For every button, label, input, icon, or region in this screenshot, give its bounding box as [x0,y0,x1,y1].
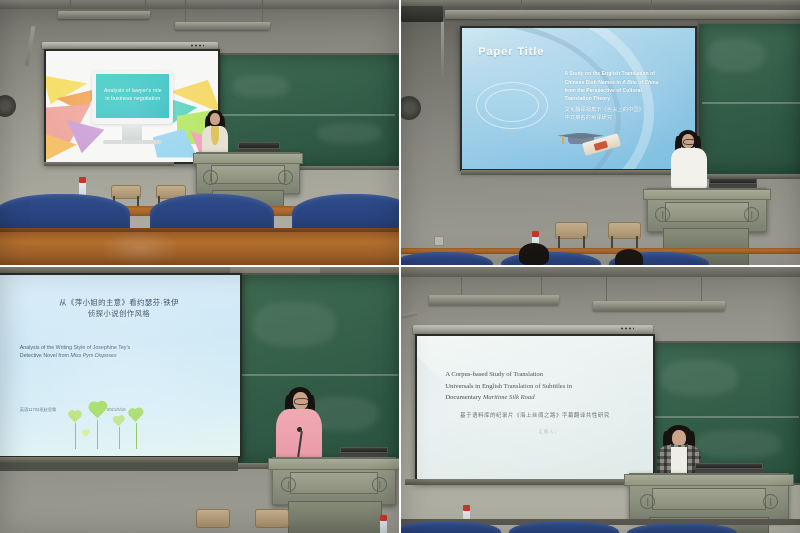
slide-content: A Corpus-based Study of Translation Univ… [417,336,653,481]
slide-content: 从《萍小姐的主意》看约瑟芬·铁伊 侦探小说创作风格 Analysis of th… [0,275,240,456]
slide-title: Analysis of lawyer's role in business ne… [100,88,165,103]
slide-heading: Paper Title [478,46,544,58]
slide-chinese-title: 文化翻译视角下《舌尖上的中国》 中式菜名的英译研究 [565,106,682,122]
screen-roller [42,42,218,49]
chair [196,509,230,528]
screen-roller [413,325,653,334]
slide-footer-class: 英语11702班赵思雩 [20,407,56,413]
glasses-icon [294,398,309,405]
ceiling-light [175,22,271,30]
panel-bottom-right: A Corpus-based Study of Translation Univ… [401,267,800,533]
slide-chinese-title: 从《萍小姐的主意》看约瑟芬·铁伊 侦探小说创作风格 [17,297,220,320]
water-bottle [380,515,387,533]
ceiling-light [429,295,560,305]
slide-english-title: A Study on the English Translation of Ch… [565,70,682,103]
projection-screen: 从《萍小姐的主意》看约瑟芬·铁伊 侦探小说创作风格 Analysis of th… [0,273,242,458]
projector [401,6,443,22]
ceiling-light [593,301,726,311]
panel-bottom-left: 从《萍小姐的主意》看约瑟芬·铁伊 侦探小说创作风格 Analysis of th… [0,267,399,533]
ceiling-light [445,10,800,19]
laptop [695,463,763,473]
panel-top-left: Analysis of lawyer's role in business ne… [0,0,399,265]
chair [255,509,289,528]
slide-english-title: A Corpus-based Study of Translation Univ… [445,369,624,403]
laptop [709,178,757,188]
slide-chinese-title: 基于语料库的纪录片《海上丝绸之路》字幕翻译共性研究 [436,411,634,419]
lectern [196,152,300,194]
chalkboard [697,22,800,176]
slide-english-title: Analysis of the Writing Style of Josephi… [20,344,192,361]
lectern [629,473,789,521]
laptop [340,447,388,457]
monitor-graphic: Analysis of lawyer's role in business ne… [92,71,173,124]
ceiling-light [58,11,151,19]
projection-screen: Analysis of lawyer's role in business ne… [44,49,220,164]
slide-content: Analysis of lawyer's role in business ne… [46,51,218,162]
slide-presenter-name: 汇报人： [488,429,611,435]
projection-screen: Paper Title A Study on the English Trans… [460,26,697,171]
slide-content: Paper Title A Study on the English Trans… [462,28,695,169]
projection-screen: A Corpus-based Study of Translation Univ… [415,334,655,483]
panel-top-right: Paper Title A Study on the English Trans… [401,0,800,265]
presenter [671,130,709,196]
presenter-outfit [671,148,707,190]
photo-collage: Analysis of lawyer's role in business ne… [0,0,800,533]
slide-footer-date: 2021/5/16 [107,407,126,412]
lectern [272,457,396,505]
lectern [647,188,767,232]
